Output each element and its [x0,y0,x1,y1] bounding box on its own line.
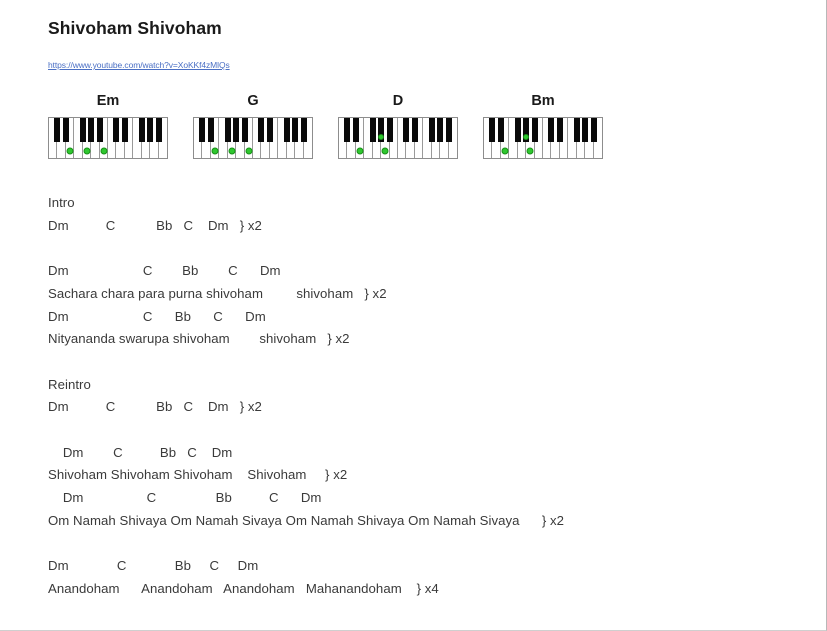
chord-diagram-d: D [338,94,498,159]
chord-name-label: D [338,94,458,109]
chord-lyric-line: Shivoham Shivoham Shivoham Shivoham } x2 [48,464,814,487]
black-key [523,118,529,142]
youtube-link[interactable]: https://www.youtube.com/watch?v=XoKKf4zM… [48,60,230,70]
spacer-line [48,351,814,374]
chord-lyric-line: Nityananda swarupa shivoham shivoham } x… [48,328,814,351]
black-key [258,118,264,142]
black-key [225,118,231,142]
black-key [489,118,495,142]
chord-diagram-row: EmGDBm [48,94,814,176]
chord-lyric-line: Dm C Bb C Dm [48,260,814,283]
chord-tone-dot [67,147,74,154]
piano-keyboard [193,117,313,159]
piano-keyboard [338,117,458,159]
black-key [88,118,94,142]
chord-tone-dot [357,147,364,154]
chord-lyric-line: Dm C Bb C Dm [48,555,814,578]
page-title: Shivoham Shivoham [48,18,814,39]
chord-name-label: Bm [483,94,603,109]
chord-tone-dot [378,134,384,140]
chord-tone-dot [100,147,107,154]
black-key [403,118,409,142]
chord-tone-dot [523,134,529,140]
spacer-line [48,533,814,556]
chord-lyric-line: Sachara chara para purna shivoham shivoh… [48,283,814,306]
black-key [515,118,521,142]
black-key [242,118,248,142]
chord-lyric-line: Dm C Bb C Dm } x2 [48,396,814,419]
black-key [63,118,69,142]
black-key [574,118,580,142]
black-key [292,118,298,142]
chord-diagram-bm: Bm [483,94,643,159]
chord-lyric-line: Intro [48,192,814,215]
black-key [353,118,359,142]
black-key [97,118,103,142]
black-key [548,118,554,142]
piano-keyboard [48,117,168,159]
chord-tone-dot [502,147,509,154]
black-key [301,118,307,142]
black-key [412,118,418,142]
chord-tone-dot [83,147,90,154]
chord-lyric-line: Om Namah Shivaya Om Namah Sivaya Om Nama… [48,510,814,533]
chord-tone-dot [228,147,235,154]
chord-tone-dot [527,147,534,154]
black-key [54,118,60,142]
black-key [284,118,290,142]
chord-lyric-line: Anandoham Anandoham Anandoham Mahanandoh… [48,578,814,601]
chord-diagram-em: Em [48,94,208,159]
black-key [591,118,597,142]
black-key [370,118,376,142]
black-key [80,118,86,142]
black-key [532,118,538,142]
black-key [122,118,128,142]
black-key [498,118,504,142]
chord-lyric-line: Dm C Bb C Dm [48,442,814,465]
black-key [267,118,273,142]
chord-name-label: Em [48,94,168,109]
chord-lyric-line: Dm C Bb C Dm [48,306,814,329]
chord-name-label: G [193,94,313,109]
black-key [233,118,239,142]
chord-diagram-g: G [193,94,353,159]
chord-tone-dot [382,147,389,154]
song-chord-sheet: IntroDm C Bb C Dm } x2 Dm C Bb C DmSacha… [48,192,814,601]
black-key [344,118,350,142]
document-content: Shivoham Shivoham https://www.youtube.co… [48,18,814,601]
black-key [378,118,384,142]
black-key [208,118,214,142]
black-key [557,118,563,142]
black-key [429,118,435,142]
black-key [437,118,443,142]
chord-lyric-line: Reintro [48,374,814,397]
chord-tone-dot [245,147,252,154]
document-page: Shivoham Shivoham https://www.youtube.co… [0,0,827,631]
black-key [387,118,393,142]
piano-keyboard [483,117,603,159]
spacer-line [48,419,814,442]
spacer-line [48,237,814,260]
black-key [156,118,162,142]
black-key [199,118,205,142]
chord-lyric-line: Dm C Bb C Dm [48,487,814,510]
chord-lyric-line: Dm C Bb C Dm } x2 [48,215,814,238]
chord-tone-dot [212,147,219,154]
black-key [139,118,145,142]
black-key [113,118,119,142]
black-key [582,118,588,142]
black-key [446,118,452,142]
black-key [147,118,153,142]
